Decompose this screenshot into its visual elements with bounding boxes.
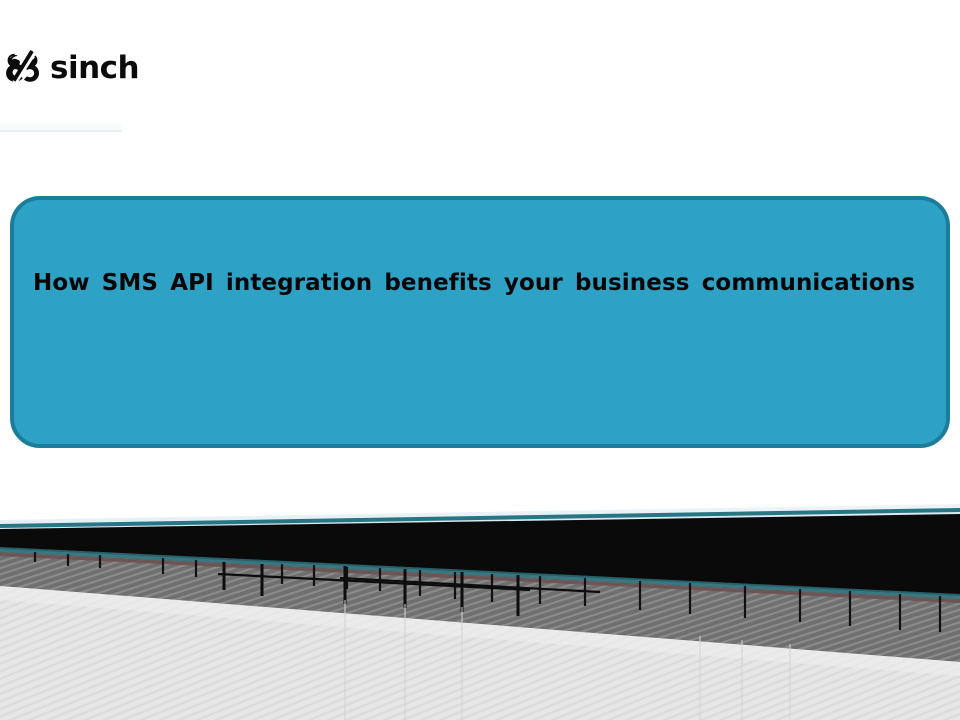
header-rule	[0, 130, 122, 132]
slide-canvas: sinch How SMS API integration benefits y…	[0, 0, 960, 720]
sinch-wordmark: sinch	[50, 53, 139, 84]
bottom-photo-band	[0, 504, 960, 720]
title-panel: How SMS API integration benefits your bu…	[10, 196, 950, 448]
sinch-infinity-mark-icon	[4, 47, 48, 87]
slide-title: How SMS API integration benefits your bu…	[33, 268, 915, 328]
sinch-logo: sinch	[4, 41, 144, 93]
bottom-photo-graphic	[0, 504, 960, 720]
